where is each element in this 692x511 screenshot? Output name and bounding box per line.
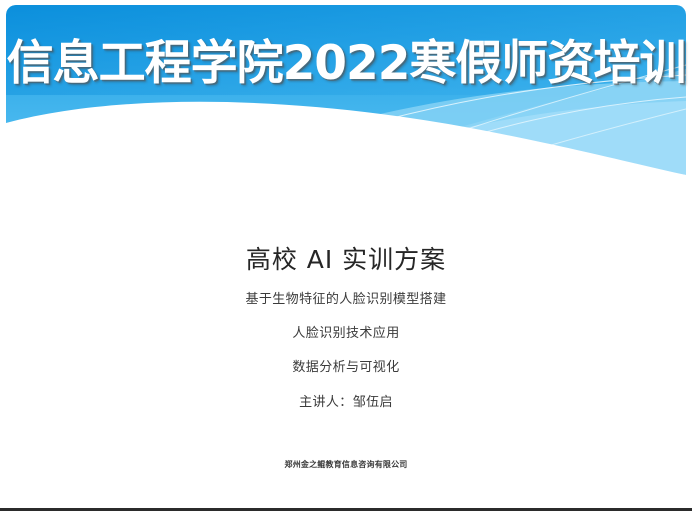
slide-content-block: 高校 AI 实训方案 基于生物特征的人脸识别模型搭建 人脸识别技术应用 数据分析… xyxy=(0,243,692,410)
presentation-slide: 信息工程学院2022寒假师资培训 高校 AI 实训方案 基于生物特征的人脸识别模… xyxy=(0,0,692,511)
presenter-line: 主讲人：邹伍启 xyxy=(0,391,692,410)
subtitle-line-3: 数据分析与可视化 xyxy=(0,356,692,375)
main-heading: 高校 AI 实训方案 xyxy=(0,243,692,277)
footer-company-name: 郑州金之鲲教育信息咨询有限公司 xyxy=(0,458,692,470)
banner-graphic xyxy=(6,5,686,175)
subtitle-line-2: 人脸识别技术应用 xyxy=(0,322,692,341)
slide-banner xyxy=(6,5,686,175)
subtitle-line-1: 基于生物特征的人脸识别模型搭建 xyxy=(0,288,692,307)
